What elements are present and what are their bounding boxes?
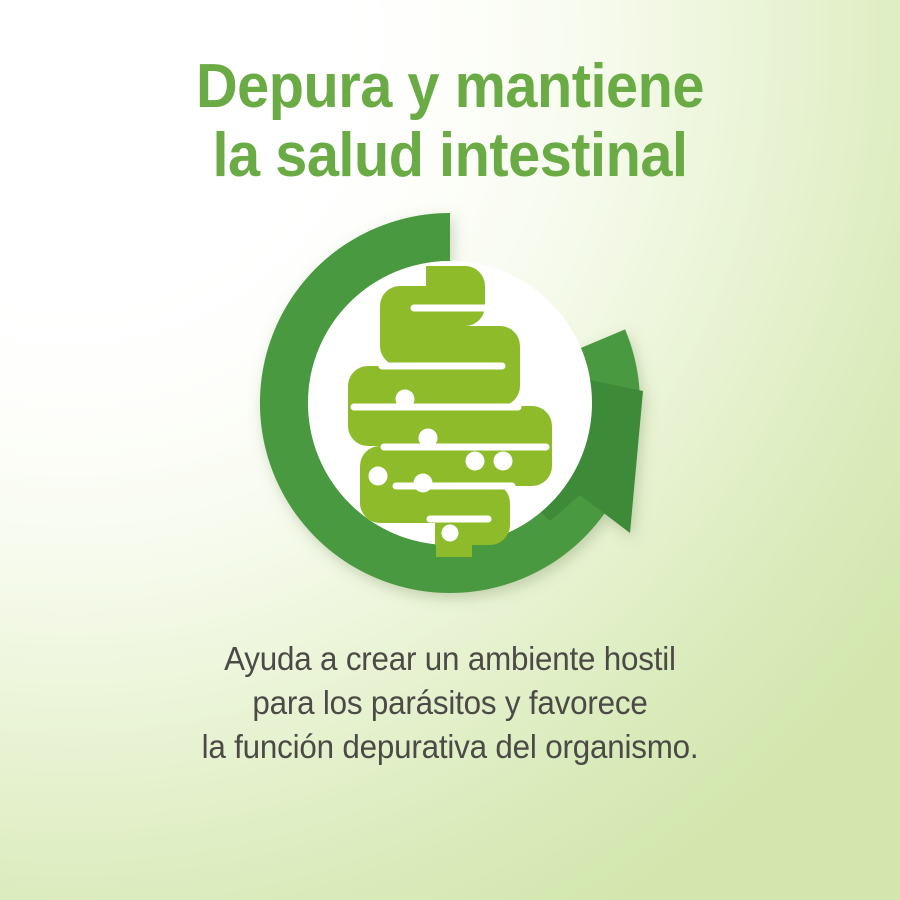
intestine-head <box>440 271 474 305</box>
caption-text: Ayuda a crear un ambiente hostil para lo… <box>23 603 878 769</box>
infographic-card: Depura y mantiene la salud intestinal <box>0 0 900 900</box>
intestine-refresh-graphic <box>250 203 650 603</box>
page-title: Depura y mantiene la salud intestinal <box>32 0 869 191</box>
intestine-refresh-icon <box>250 203 650 603</box>
